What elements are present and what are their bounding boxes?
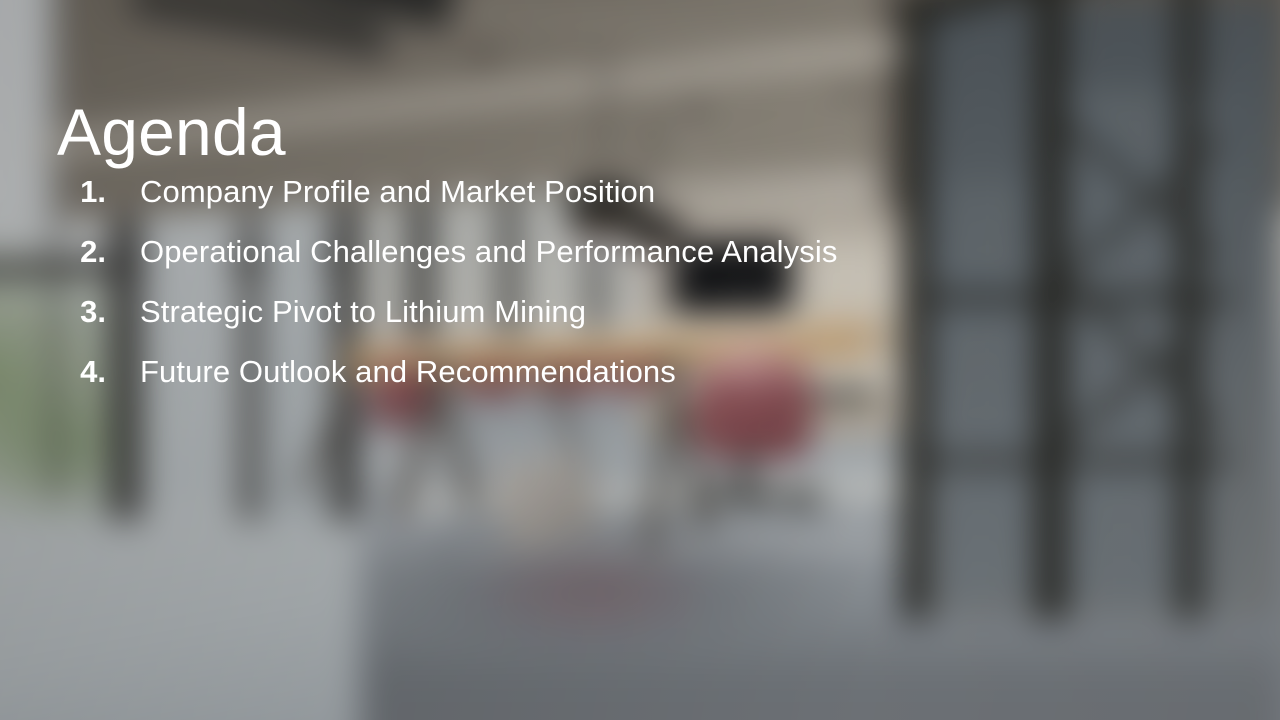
list-item-number: 3. bbox=[0, 296, 106, 327]
list-item-number: 1. bbox=[0, 176, 106, 207]
list-item-number: 4. bbox=[0, 356, 106, 387]
list-item[interactable]: 1. Company Profile and Market Position bbox=[0, 146, 837, 206]
agenda-list: 1. Company Profile and Market Position 2… bbox=[0, 146, 837, 386]
list-item-number: 2. bbox=[0, 236, 106, 267]
list-item[interactable]: 2. Operational Challenges and Performanc… bbox=[0, 206, 837, 266]
list-item-label: Future Outlook and Recommendations bbox=[140, 356, 676, 387]
presentation-slide: Agenda 1. Company Profile and Market Pos… bbox=[0, 0, 1280, 720]
list-item-label: Strategic Pivot to Lithium Mining bbox=[140, 296, 586, 327]
list-item-label: Operational Challenges and Performance A… bbox=[140, 236, 837, 267]
list-item[interactable]: 4. Future Outlook and Recommendations bbox=[0, 326, 837, 386]
slide-content: Agenda 1. Company Profile and Market Pos… bbox=[0, 0, 1280, 720]
list-item-label: Company Profile and Market Position bbox=[140, 176, 655, 207]
list-item[interactable]: 3. Strategic Pivot to Lithium Mining bbox=[0, 266, 837, 326]
